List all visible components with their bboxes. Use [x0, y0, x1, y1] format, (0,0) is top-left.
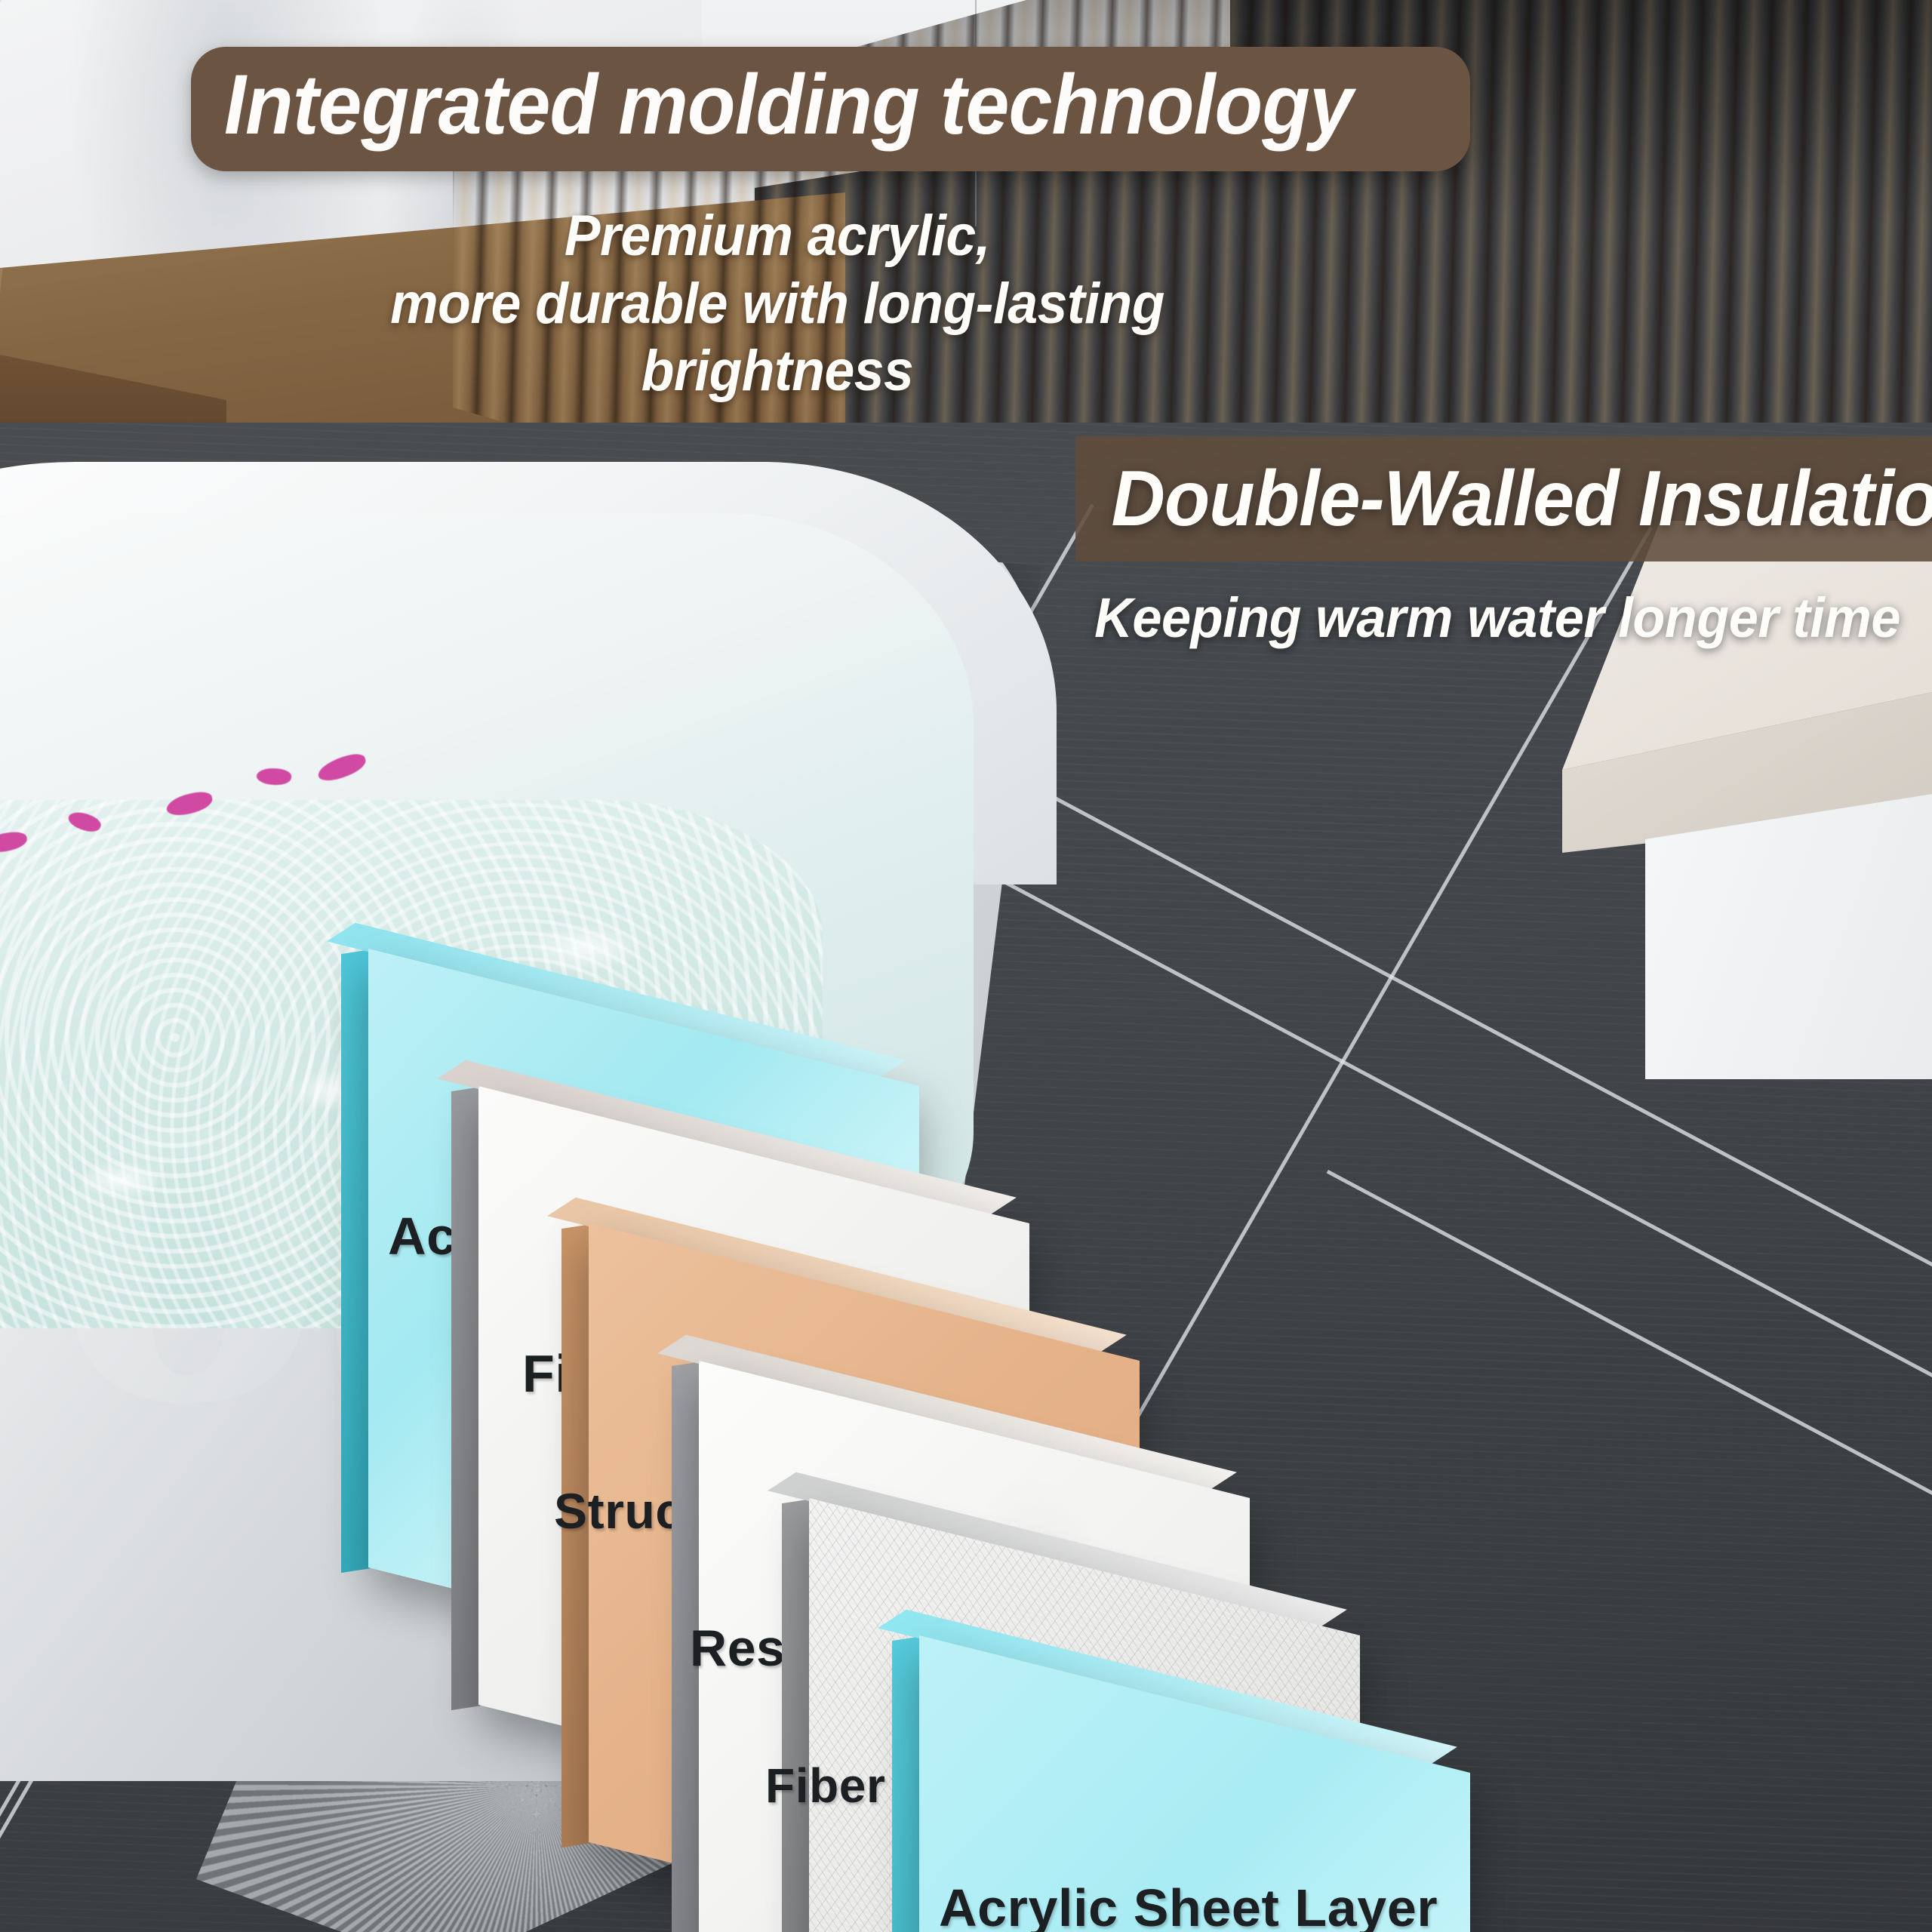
title-banner-secondary: Double-Walled Insulation [1075, 436, 1932, 561]
title-banner-primary: Integrated molding technology [191, 47, 1470, 171]
slab-side-face [892, 1636, 922, 1932]
title-text: Integrated molding technology [224, 57, 1352, 152]
subtitle-primary-line2: more durable with long-lasting brightnes… [316, 270, 1238, 405]
subtitle-secondary: Keeping warm water longer time [1072, 586, 1921, 650]
subtitle-secondary-text: Keeping warm water longer time [1094, 586, 1900, 650]
slab-side-face [341, 949, 371, 1573]
slab-side-face [451, 1087, 481, 1710]
subtitle-primary: Premium acrylic, more durable with long-… [287, 202, 1268, 405]
flower-petal [0, 830, 28, 854]
layer-label-text: Acrylic Sheet Layer [939, 1878, 1438, 1932]
slab-side-face [782, 1499, 812, 1932]
flower-petal [66, 808, 103, 836]
subtitle-primary-line1: Premium acrylic, [316, 202, 1238, 270]
title-text-secondary: Double-Walled Insulation [1075, 454, 1932, 544]
tile-grout-line [1327, 1170, 1932, 1598]
product-infographic: ou Integrated molding technology Premium… [0, 0, 1932, 1932]
